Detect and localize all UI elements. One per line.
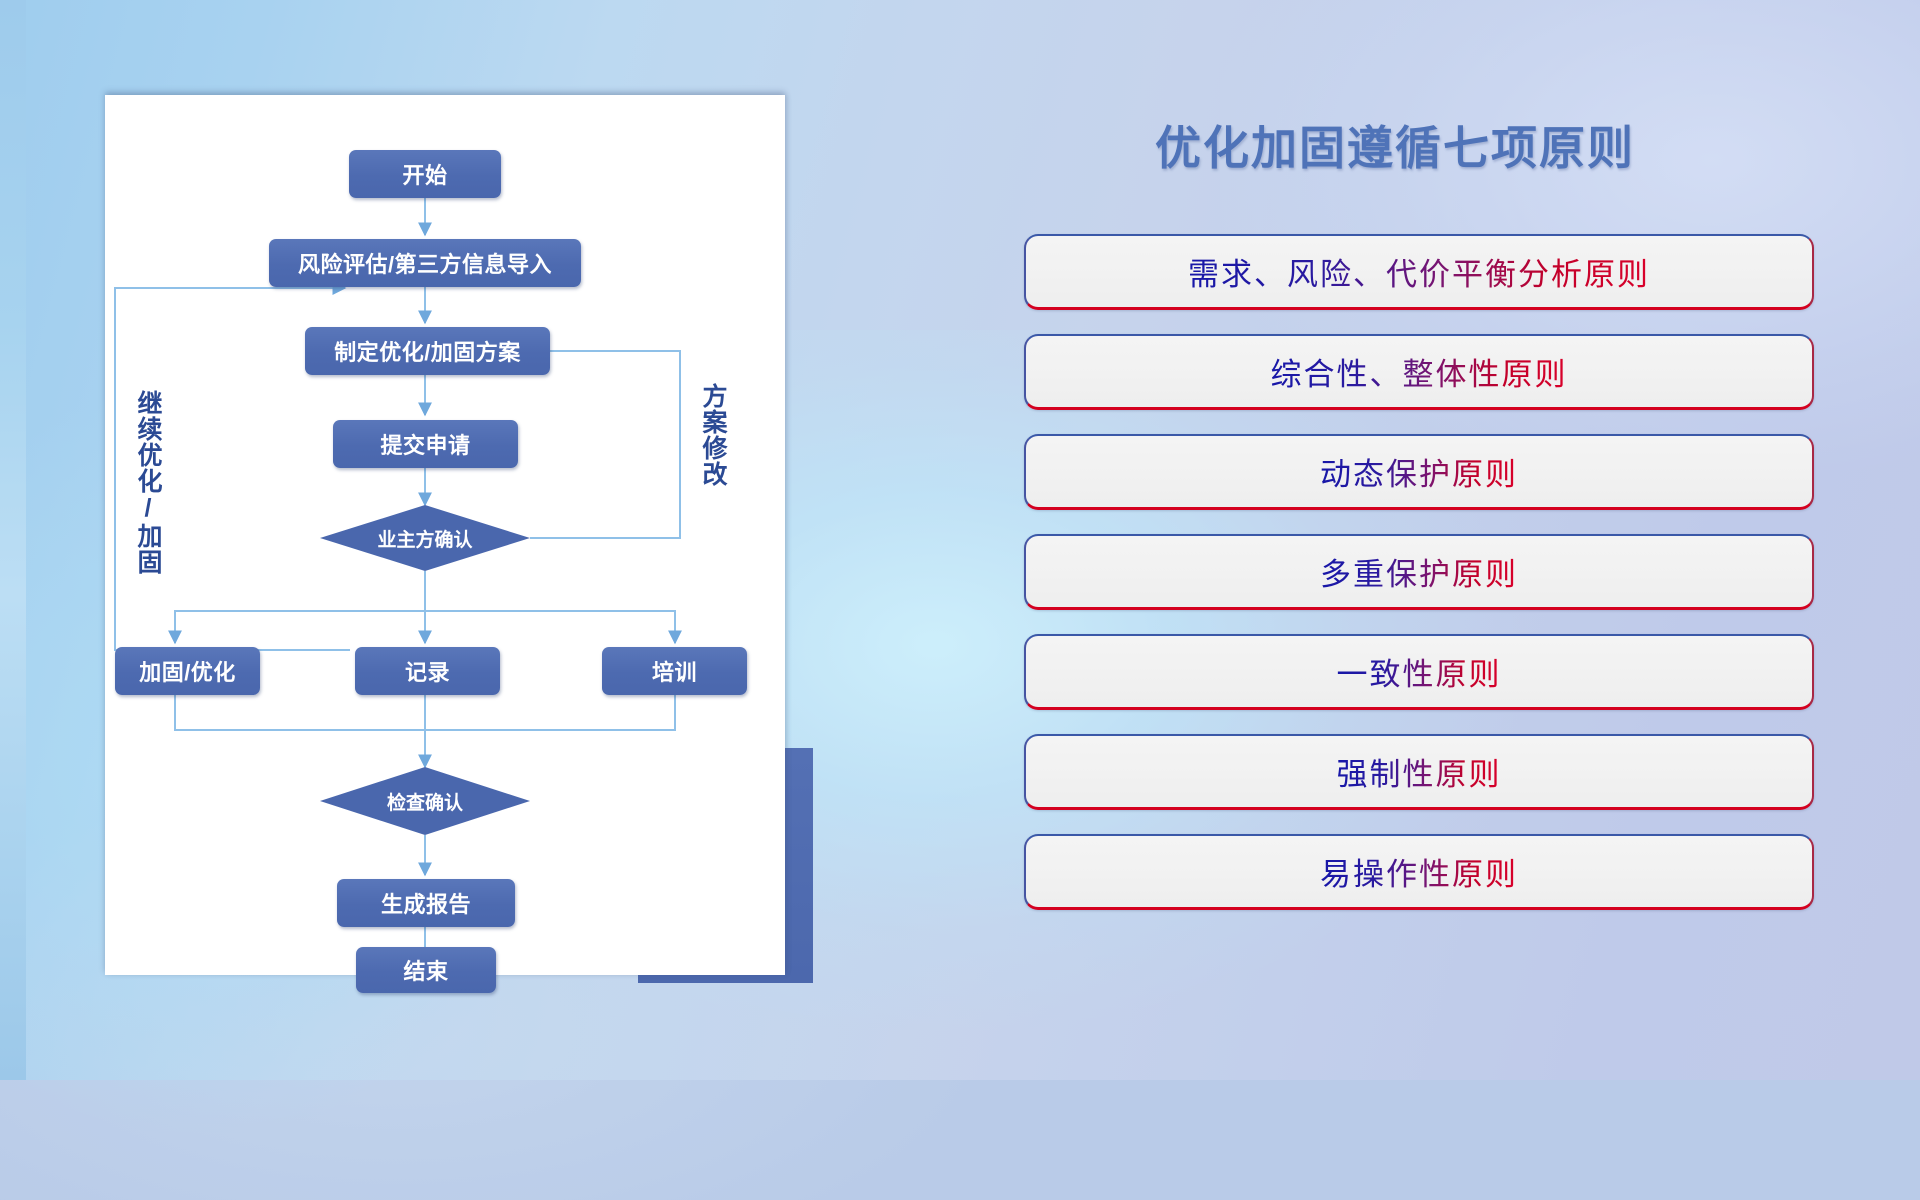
principle-list: 需求、风险、代价平衡分析原则 综合性、整体性原则 动态保护原则 多重保护原则 一…: [1024, 234, 1814, 934]
principle-item[interactable]: 综合性、整体性原则: [1024, 334, 1814, 410]
flowchart-card: 开始 风险评估/第三方信息导入 制定优化/加固方案 提交申请 业主方确认 加固/…: [105, 95, 785, 975]
flow-node-label: 业主方确认: [377, 525, 472, 552]
flow-node-label: 制定优化/加固方案: [334, 335, 521, 367]
principle-label: 动态保护原则: [1320, 449, 1518, 494]
flow-node-submit-application[interactable]: 提交申请: [333, 420, 518, 468]
principle-item[interactable]: 强制性原则: [1024, 734, 1814, 810]
flow-node-check-confirm[interactable]: 检查确认: [320, 767, 530, 835]
principle-item[interactable]: 多重保护原则: [1024, 534, 1814, 610]
principle-label: 需求、风险、代价平衡分析原则: [1188, 249, 1650, 294]
flow-node-label: 生成报告: [381, 887, 471, 919]
flow-node-record[interactable]: 记录: [355, 647, 500, 695]
flow-node-owner-confirm[interactable]: 业主方确认: [320, 505, 530, 571]
principle-label: 易操作性原则: [1320, 849, 1518, 894]
principle-label: 多重保护原则: [1320, 549, 1518, 594]
flow-node-plan[interactable]: 制定优化/加固方案: [305, 327, 550, 375]
flow-node-generate-report[interactable]: 生成报告: [337, 879, 515, 927]
flow-node-start[interactable]: 开始: [349, 150, 501, 198]
flow-node-training[interactable]: 培训: [602, 647, 747, 695]
principle-item[interactable]: 需求、风险、代价平衡分析原则: [1024, 234, 1814, 310]
principle-label: 综合性、整体性原则: [1271, 349, 1568, 394]
principle-item[interactable]: 动态保护原则: [1024, 434, 1814, 510]
edge-label-continue-optimize: 继续优化/加固: [135, 390, 161, 575]
flow-node-label: 加固/优化: [139, 655, 236, 687]
flow-node-label: 提交申请: [380, 428, 470, 460]
principle-item[interactable]: 易操作性原则: [1024, 834, 1814, 910]
flow-node-label: 检查确认: [387, 788, 463, 815]
principle-label: 一致性原则: [1337, 649, 1502, 694]
flow-node-end[interactable]: 结束: [356, 947, 496, 993]
background-left-band: [0, 0, 26, 1080]
flow-node-label: 培训: [652, 655, 697, 687]
panel-title: 优化加固遵循七项原则: [1155, 112, 1635, 178]
flow-node-label: 记录: [405, 655, 450, 687]
flow-node-reinforce[interactable]: 加固/优化: [115, 647, 260, 695]
principle-item[interactable]: 一致性原则: [1024, 634, 1814, 710]
edge-label-plan-revision: 方案修改: [700, 383, 726, 487]
principle-label: 强制性原则: [1337, 749, 1502, 794]
flow-node-risk-assessment[interactable]: 风险评估/第三方信息导入: [269, 239, 581, 287]
flow-node-label: 风险评估/第三方信息导入: [298, 247, 552, 279]
flow-node-label: 开始: [402, 158, 447, 190]
flow-node-label: 结束: [403, 954, 448, 986]
